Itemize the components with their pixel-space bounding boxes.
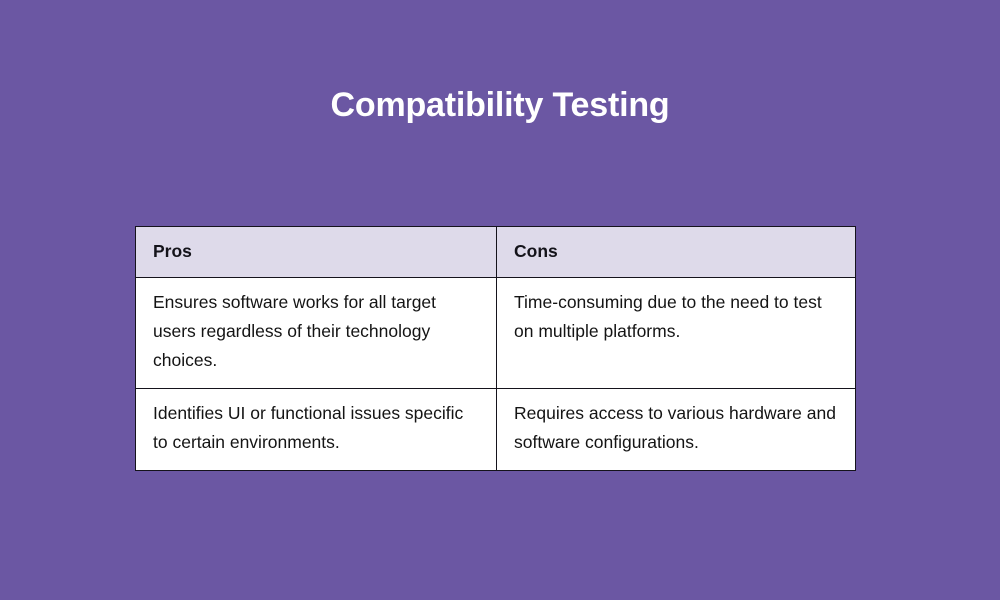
table-row: Identifies UI or functional issues speci… [136, 389, 856, 471]
table-body: Ensures software works for all target us… [136, 278, 856, 471]
column-header-cons: Cons [497, 227, 856, 278]
cell-pros-2: Identifies UI or functional issues speci… [136, 389, 497, 471]
column-header-pros: Pros [136, 227, 497, 278]
cell-text: Requires access to various hardware and … [514, 399, 837, 457]
table-header: Pros Cons [136, 227, 856, 278]
table-header-row: Pros Cons [136, 227, 856, 278]
cell-text: Time-consuming due to the need to test o… [514, 288, 837, 346]
pros-cons-table: Pros Cons Ensures software works for all… [135, 226, 856, 471]
table-row: Ensures software works for all target us… [136, 278, 856, 389]
cell-cons-1: Time-consuming due to the need to test o… [497, 278, 856, 389]
pros-cons-table-container: Pros Cons Ensures software works for all… [135, 226, 855, 471]
slide-canvas: Compatibility Testing Pros Cons Ensures … [0, 0, 1000, 600]
cell-cons-2: Requires access to various hardware and … [497, 389, 856, 471]
cell-text: Ensures software works for all target us… [153, 288, 478, 375]
cell-pros-1: Ensures software works for all target us… [136, 278, 497, 389]
cell-text: Identifies UI or functional issues speci… [153, 399, 478, 457]
page-title: Compatibility Testing [0, 83, 1000, 127]
